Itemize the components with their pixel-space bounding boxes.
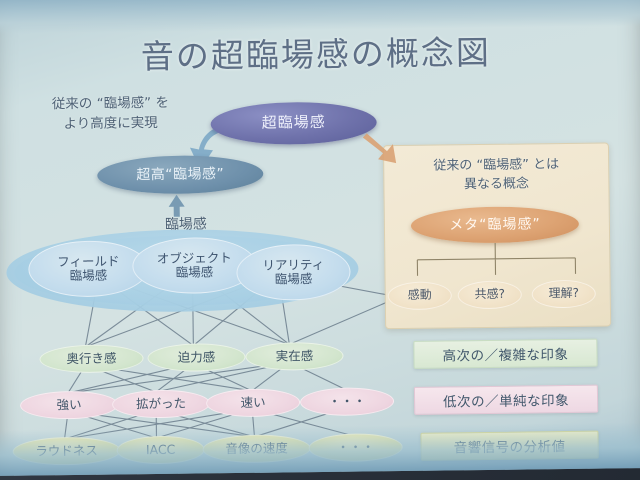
projection-screen: 音の超臨場感の概念図 従来の “臨場感” を より高度に実現 超臨場感 超高“臨… [0,0,640,476]
node-image-velocity-label: 音像の速度 [225,441,288,456]
node-spread-label: 拡がった [136,396,186,411]
note-right: 従来の “臨場感” とは 異なる概念 [394,156,598,196]
node-ultra-high-presence-label: 超高“臨場感” [136,166,224,183]
node-iacc[interactable]: IACC [116,435,204,464]
node-presence-sense-label: 実在感 [276,349,314,364]
node-understanding[interactable]: 理解? [532,280,596,309]
note-left-text: 従来の “臨場感” を より高度に実現 [52,95,169,132]
legend-acoustic-analysis: 音響信号の分析値 [420,431,598,461]
slide-content: 音の超臨場感の概念図 従来の “臨場感” を より高度に実現 超臨場感 超高“臨… [3,2,620,455]
node-depth-sense-label: 奥行き感 [66,351,116,366]
node-ultra-high-presence[interactable]: 超高“臨場感” [97,155,263,195]
node-image-velocity[interactable]: 音像の速度 [202,434,310,463]
node-power-sense[interactable]: 迫力感 [147,343,245,372]
node-super-presence-label: 超臨場感 [262,114,326,132]
node-emotion-label: 感動 [408,289,432,303]
legend-low-order-label: 低次の／単純な印象 [443,389,569,411]
node-loudness[interactable]: ラウドネス [12,436,120,465]
node-fast-label: 速い [240,395,265,410]
node-meta-presence[interactable]: メタ“臨場感” [411,206,579,244]
node-empathy[interactable]: 共感? [458,281,522,310]
node-meta-presence-label: メタ“臨場感” [449,216,541,233]
node-spread[interactable]: 拡がった [112,389,210,418]
node-field-presence-label: フィールド 臨場感 [57,254,120,284]
node-fast[interactable]: 速い [206,388,300,417]
node-strong[interactable]: 強い [20,390,118,419]
slide-title: 音の超臨場感の概念図 [96,25,537,78]
node-iacc-label: IACC [146,443,176,458]
node-strong-label: 強い [56,398,81,413]
node-super-presence[interactable]: 超臨場感 [210,101,377,145]
node-emotion[interactable]: 感動 [388,281,452,310]
node-reality-presence[interactable]: リアリティ 臨場感 [236,244,351,301]
node-understanding-label: 理解? [548,287,579,301]
projected-slide-photo: 音の超臨場感の概念図 従来の “臨場感” を より高度に実現 超臨場感 超高“臨… [0,0,640,480]
node-reality-presence-label: リアリティ 臨場感 [262,258,324,288]
node-physical-more[interactable]: ・・・ [308,433,402,462]
legend-high-order-label: 高次の／複雑な印象 [442,343,568,365]
arrow-down-right-icon [363,129,405,170]
legend-low-order: 低次の／単純な印象 [414,385,598,415]
node-attribute-more-label: ・・・ [328,394,366,409]
node-attribute-more[interactable]: ・・・ [300,387,394,416]
legend-acoustic-analysis-label: 音響信号の分析値 [453,435,565,456]
node-empathy-label: 共感? [474,288,505,302]
node-loudness-label: ラウドネス [35,444,98,459]
note-right-text: 従来の “臨場感” とは 異なる概念 [433,157,559,192]
node-presence-sense[interactable]: 実在感 [245,342,343,371]
node-object-presence-label: オブジェクト 臨場感 [157,251,232,281]
node-physical-more-label: ・・・ [337,440,375,455]
meta-presence-panel: 従来の “臨場感” とは 異なる概念 メタ“臨場感” 感動 共感? [383,142,611,329]
node-depth-sense[interactable]: 奥行き感 [39,344,143,373]
node-power-sense-label: 迫力感 [178,350,216,365]
legend-high-order: 高次の／複雑な印象 [413,339,597,369]
